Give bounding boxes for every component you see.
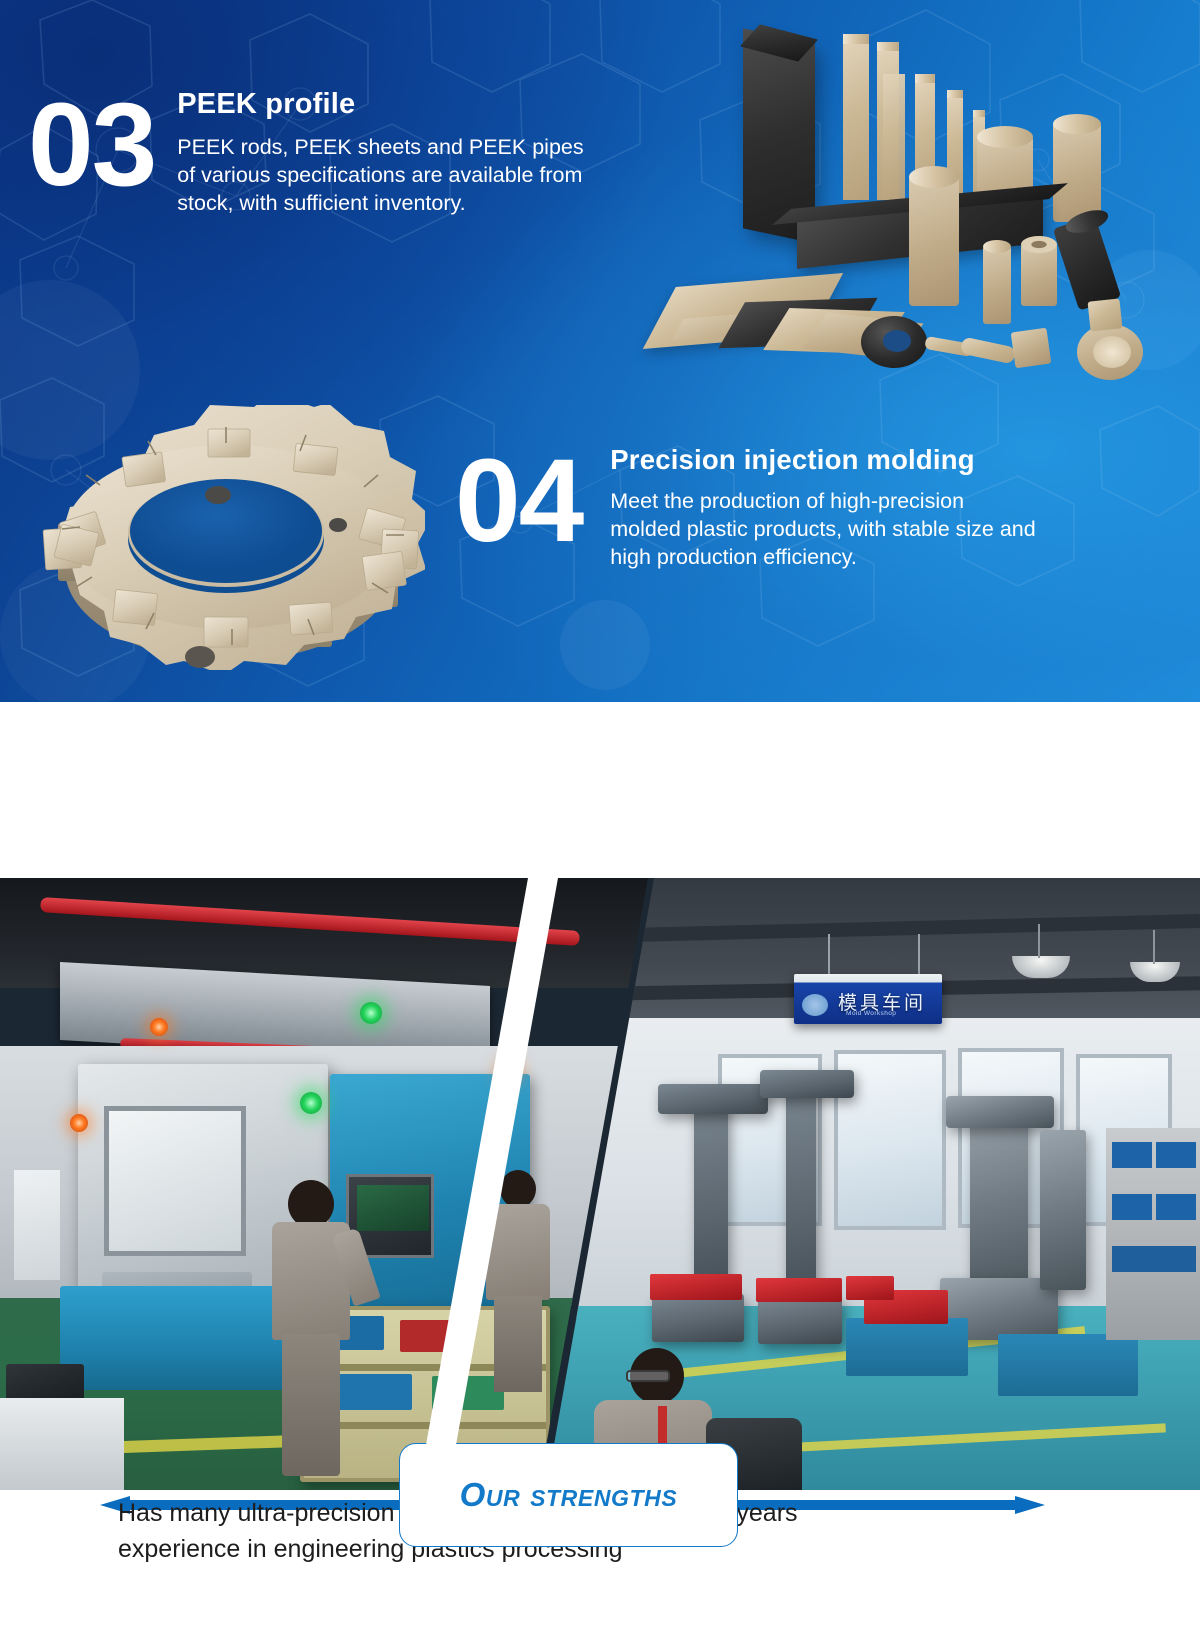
sign-text-en: Mold Workshop bbox=[846, 1010, 896, 1017]
hero-item-body: Meet the production of high-precision mo… bbox=[610, 488, 1040, 572]
decorative-circle bbox=[560, 600, 650, 690]
photo-mold-workshop: 模具车间 Mold Workshop bbox=[546, 878, 1200, 1490]
company-logo-icon bbox=[802, 994, 828, 1016]
hero-item-03: 03 PEEK profile PEEK rods, PEEK sheets a… bbox=[28, 84, 592, 218]
strengths-banner: Our strengths bbox=[0, 702, 1200, 878]
hero-panel: 03 PEEK profile PEEK rods, PEEK sheets a… bbox=[0, 0, 1200, 702]
peek-gear-ring-image bbox=[35, 405, 425, 670]
strengths-label: Our strengths bbox=[460, 1476, 678, 1514]
mold-workshop-sign: 模具车间 Mold Workshop bbox=[794, 974, 942, 1024]
hero-item-number: 03 bbox=[28, 90, 155, 201]
factory-photos: 模具车间 Mold Workshop bbox=[0, 878, 1200, 1490]
hero-item-number: 04 bbox=[455, 446, 582, 557]
hero-item-title: PEEK profile bbox=[177, 88, 592, 121]
photo-cnc-workshop bbox=[0, 878, 648, 1490]
hero-item-title: Precision injection molding bbox=[610, 444, 1040, 476]
hero-item-body: PEEK rods, PEEK sheets and PEEK pipes of… bbox=[177, 134, 592, 218]
hero-item-04: 04 Precision injection molding Meet the … bbox=[455, 440, 1040, 572]
peek-stock-products-image bbox=[625, 18, 1185, 363]
